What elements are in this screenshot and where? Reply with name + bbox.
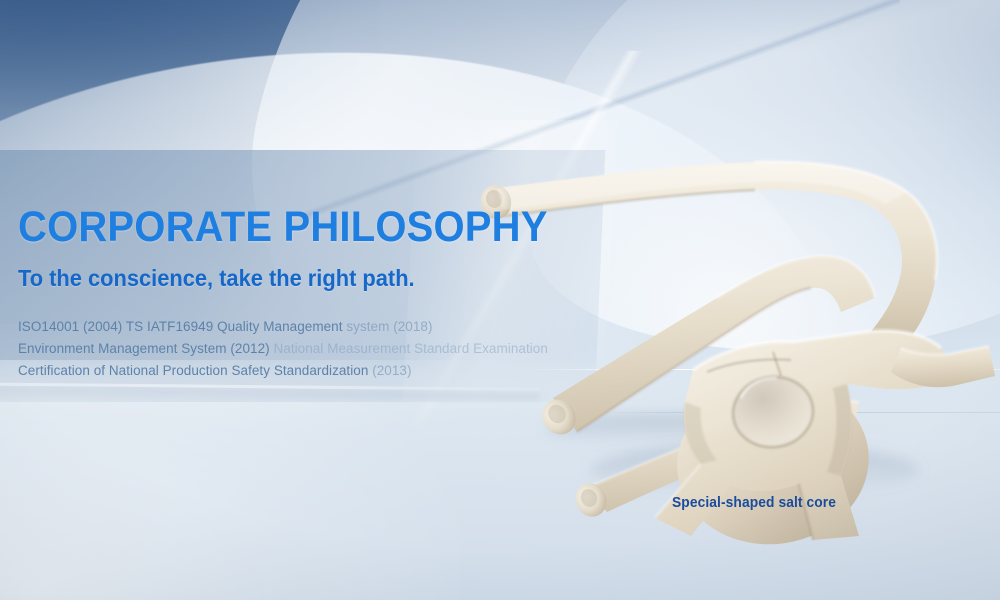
background-vignette: [0, 0, 1000, 600]
corporate-philosophy-banner: CORPORATE PHILOSOPHY To the conscience, …: [0, 0, 1000, 600]
